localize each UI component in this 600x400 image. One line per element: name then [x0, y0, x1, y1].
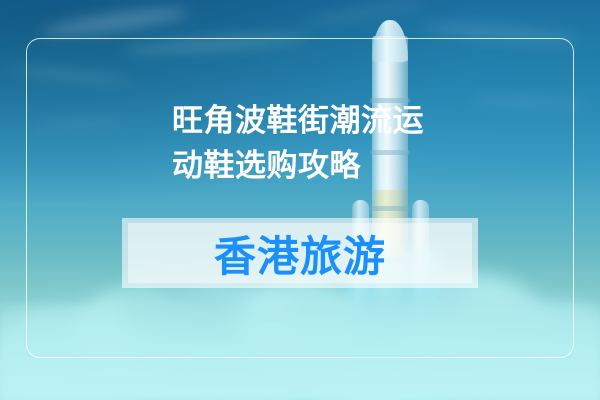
- promo-banner: 旺角波鞋街潮流运 动鞋选购攻略 香港旅游: [0, 0, 600, 400]
- smoke-floor: [0, 304, 600, 400]
- background-image: [0, 0, 600, 400]
- category-label-band: 香港旅游: [122, 218, 478, 288]
- banner-headline: 旺角波鞋街潮流运 动鞋选购攻略: [172, 98, 472, 188]
- rocket-nose-cone: [372, 20, 408, 62]
- category-label: 香港旅游: [122, 218, 478, 288]
